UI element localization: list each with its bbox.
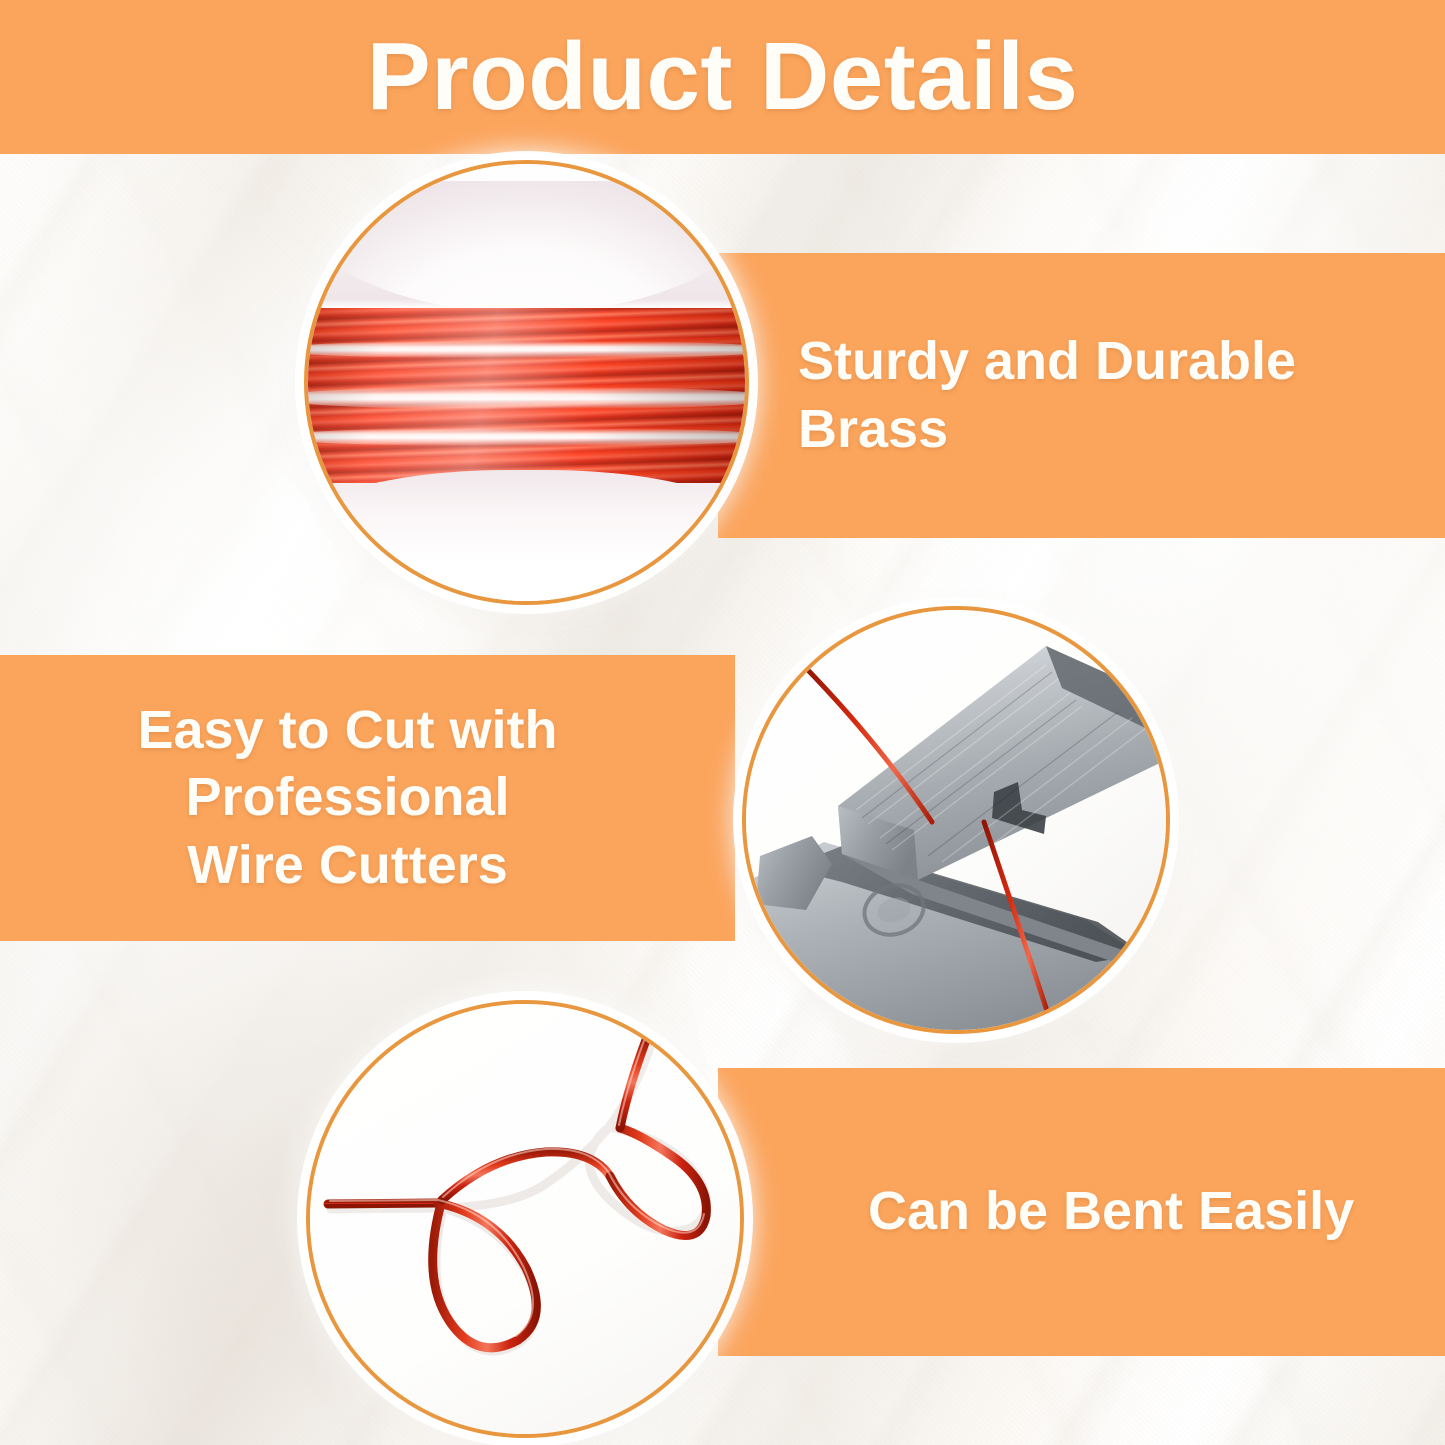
feature-image-bent-wire-loops — [306, 1000, 744, 1438]
spool-photo — [308, 164, 745, 601]
product-details-infographic: Product Details Sturdy and Durable Brass… — [0, 0, 1445, 1445]
bent-wire-shadow — [331, 1045, 707, 1351]
header-banner: Product Details — [0, 0, 1445, 154]
page-title: Product Details — [367, 29, 1079, 125]
pliers-photo — [746, 610, 1166, 1030]
feature-label-sturdy: Sturdy and Durable Brass — [798, 328, 1445, 463]
wire-left-tail — [328, 1203, 438, 1204]
pliers-illustration — [746, 610, 1166, 1030]
spool-bottom-flange — [304, 470, 749, 601]
feature-label-easy-cut-line2: Wire Cutters — [0, 832, 695, 900]
wire-lower-loop — [433, 1200, 537, 1348]
wire-specular-shine — [304, 308, 749, 483]
feature-label-easy-cut-line1: Easy to Cut with Professional — [0, 697, 695, 832]
wire-right-loop — [610, 1128, 706, 1236]
feature-band-easy-cut: Easy to Cut with Professional Wire Cutte… — [0, 655, 735, 941]
wire-highlight — [330, 1038, 704, 1336]
wire-right-tail — [620, 1040, 646, 1128]
feature-band-bendable: Can be Bent Easily — [718, 1068, 1445, 1356]
feature-image-wire-cutter-pliers — [742, 606, 1170, 1034]
bent-wire-illustration — [310, 1004, 740, 1434]
feature-label-bendable: Can be Bent Easily — [868, 1178, 1354, 1246]
feature-image-red-brass-wire-spool — [304, 160, 749, 605]
feature-band-sturdy: Sturdy and Durable Brass — [718, 253, 1445, 538]
feature-label-easy-cut: Easy to Cut with Professional Wire Cutte… — [0, 697, 695, 900]
bent-wire-photo — [310, 1004, 740, 1434]
